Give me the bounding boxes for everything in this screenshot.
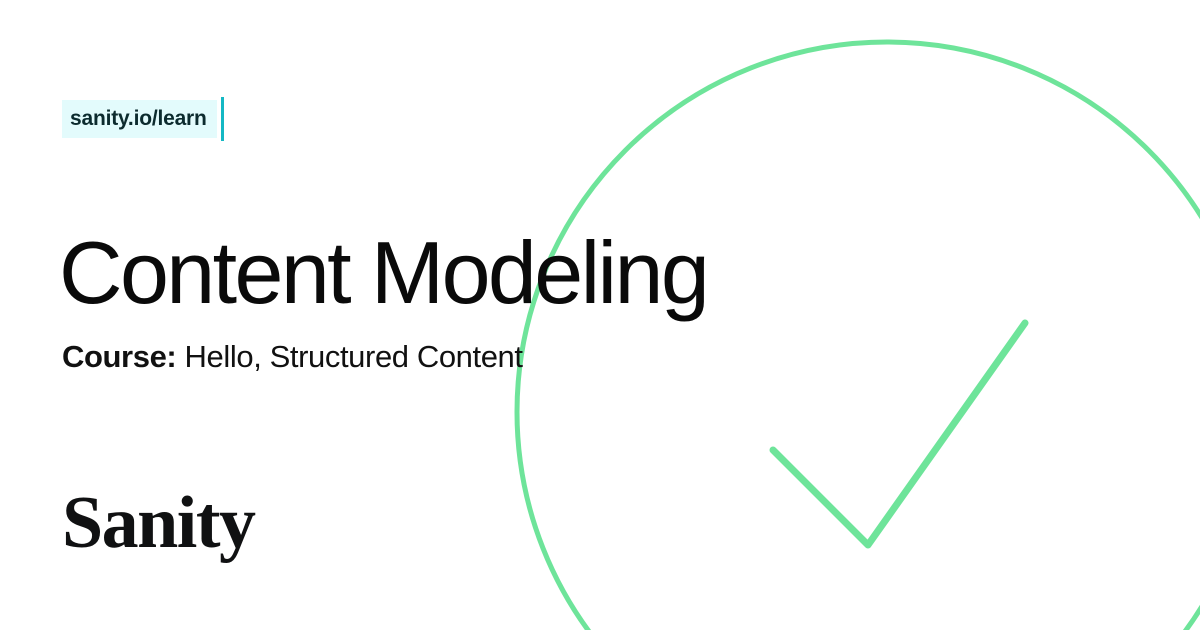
course-label: Course: [62, 339, 176, 374]
og-card: sanity.io/learn Content Modeling Course:… [0, 0, 1200, 630]
sanity-logo: Sanity [62, 486, 255, 560]
text-cursor-icon [221, 97, 224, 141]
content-column: sanity.io/learn Content Modeling Course:… [62, 0, 822, 630]
site-badge-label: sanity.io/learn [62, 100, 217, 138]
course-subtitle: Course: Hello, Structured Content [62, 339, 523, 375]
site-badge: sanity.io/learn [62, 100, 224, 138]
page-title: Content Modeling [59, 225, 707, 320]
course-name: Hello, Structured Content [185, 339, 523, 374]
